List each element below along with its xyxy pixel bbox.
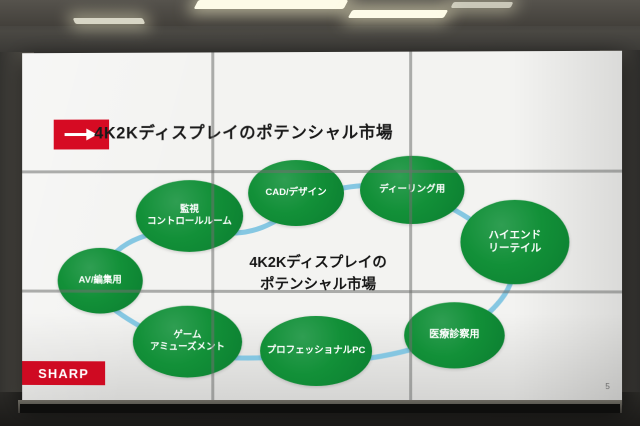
bubble-label: 監視 — [145, 204, 234, 216]
bubble-label: リーテイル — [486, 242, 543, 255]
bubble-label: プロフェッショナルPC — [265, 345, 368, 357]
ceiling-light — [73, 18, 146, 24]
bubble-cad-design: CAD/デザイン — [248, 160, 344, 226]
video-wall: 4K2Kディスプレイのポテンシャル市場 4K2Kディスプレイの ポテンシャル市場… — [22, 51, 622, 405]
slide-title: 4K2Kディスプレイのポテンシャル市場 — [94, 119, 514, 144]
bubble-label: 医療診察用 — [427, 329, 481, 342]
wall-bottom-strip — [20, 404, 620, 413]
ceiling-light — [194, 0, 349, 9]
center-label-line2: ポテンシャル市場 — [220, 274, 416, 297]
bubble-label: CAD/デザイン — [263, 187, 328, 199]
bubble-professional-pc: プロフェッショナルPC — [260, 316, 372, 386]
bubble-label: AV/編集用 — [77, 275, 124, 287]
bubble-label: ハイエンド — [486, 229, 543, 242]
sharp-logo: SHARP — [22, 361, 105, 385]
bubble-high-end-retail: ハイエンドリーテイル — [460, 200, 569, 284]
bubble-dealing: ディーリング用 — [360, 156, 464, 224]
room-photo: 4K2Kディスプレイのポテンシャル市場 4K2Kディスプレイの ポテンシャル市場… — [0, 0, 640, 426]
bubble-monitoring-control: 監視コントロールルーム — [136, 180, 243, 252]
bubble-label: ゲーム — [148, 330, 227, 342]
ceiling-light — [451, 2, 514, 8]
ceiling-light — [348, 10, 449, 18]
page-number: 5 — [605, 382, 610, 391]
center-label: 4K2Kディスプレイの ポテンシャル市場 — [220, 252, 416, 297]
bubble-av-editing: AV/編集用 — [58, 248, 143, 314]
bubble-label: ディーリング用 — [377, 184, 447, 196]
bubble-game-amusement: ゲームアミューズメント — [133, 306, 242, 378]
bubble-label: アミューズメント — [148, 342, 227, 354]
bubble-label: コントロールルーム — [145, 216, 234, 228]
center-label-line1: 4K2Kディスプレイの — [220, 252, 416, 275]
bubble-medical-diagnosis: 医療診察用 — [404, 302, 505, 368]
